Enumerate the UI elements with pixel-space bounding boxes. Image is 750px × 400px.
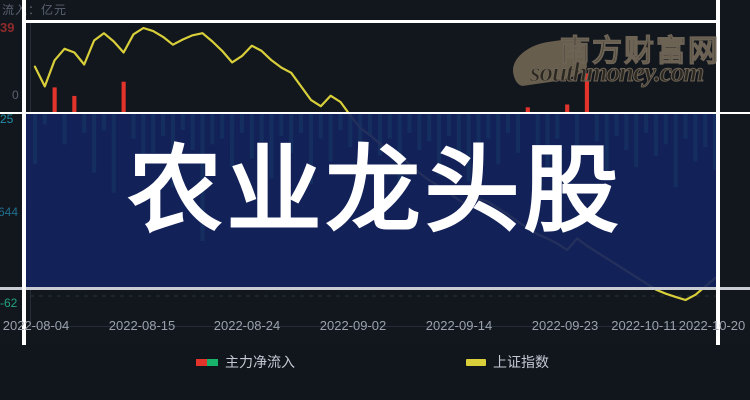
chart-screenshot: 流入：亿元 39 0 -25 -644 -62 南方财富网 southmoney… — [0, 0, 750, 400]
x-axis-label-6: 2022-10-11 — [611, 318, 677, 333]
crop-rail-top — [22, 20, 720, 23]
legend-item-main-net-inflow[interactable]: 主力净流入 — [196, 352, 295, 372]
bar — [585, 73, 589, 113]
legend-label-shanghai-index: 上证指数 — [493, 352, 549, 372]
bottom-filler — [0, 380, 750, 400]
legend-item-shanghai-index[interactable]: 上证指数 — [466, 352, 549, 372]
crop-rail-bottom — [0, 287, 750, 290]
bar — [122, 82, 126, 113]
legend-swatch-line-icon — [466, 359, 486, 366]
x-axis-label-2: 2022-08-24 — [214, 318, 281, 333]
x-axis-label-5: 2022-09-23 — [532, 318, 599, 333]
x-axis-label-3: 2022-09-02 — [320, 318, 387, 333]
y-axis-label-1: -25 — [0, 112, 13, 126]
bar — [72, 96, 76, 113]
x-axis-tick-labels: 2022-08-042022-08-152022-08-242022-09-02… — [0, 318, 750, 340]
legend-swatch-split-icon — [196, 359, 218, 366]
x-axis-label-7: 2022-10-20 — [679, 318, 746, 333]
chart-legend: 主力净流入 上证指数 — [0, 352, 750, 376]
y-axis-label-3: -62 — [0, 296, 17, 310]
x-axis-label-0: 2022-08-04 — [3, 318, 70, 333]
zero-baseline — [0, 112, 750, 114]
x-axis-label-4: 2022-09-14 — [426, 318, 493, 333]
bar — [53, 87, 57, 113]
page-title: 农业龙头股 — [0, 136, 750, 246]
y-axis-label-0: 0 — [12, 88, 19, 102]
legend-label-main-net-inflow: 主力净流入 — [225, 352, 295, 372]
x-axis-label-1: 2022-08-15 — [109, 318, 176, 333]
